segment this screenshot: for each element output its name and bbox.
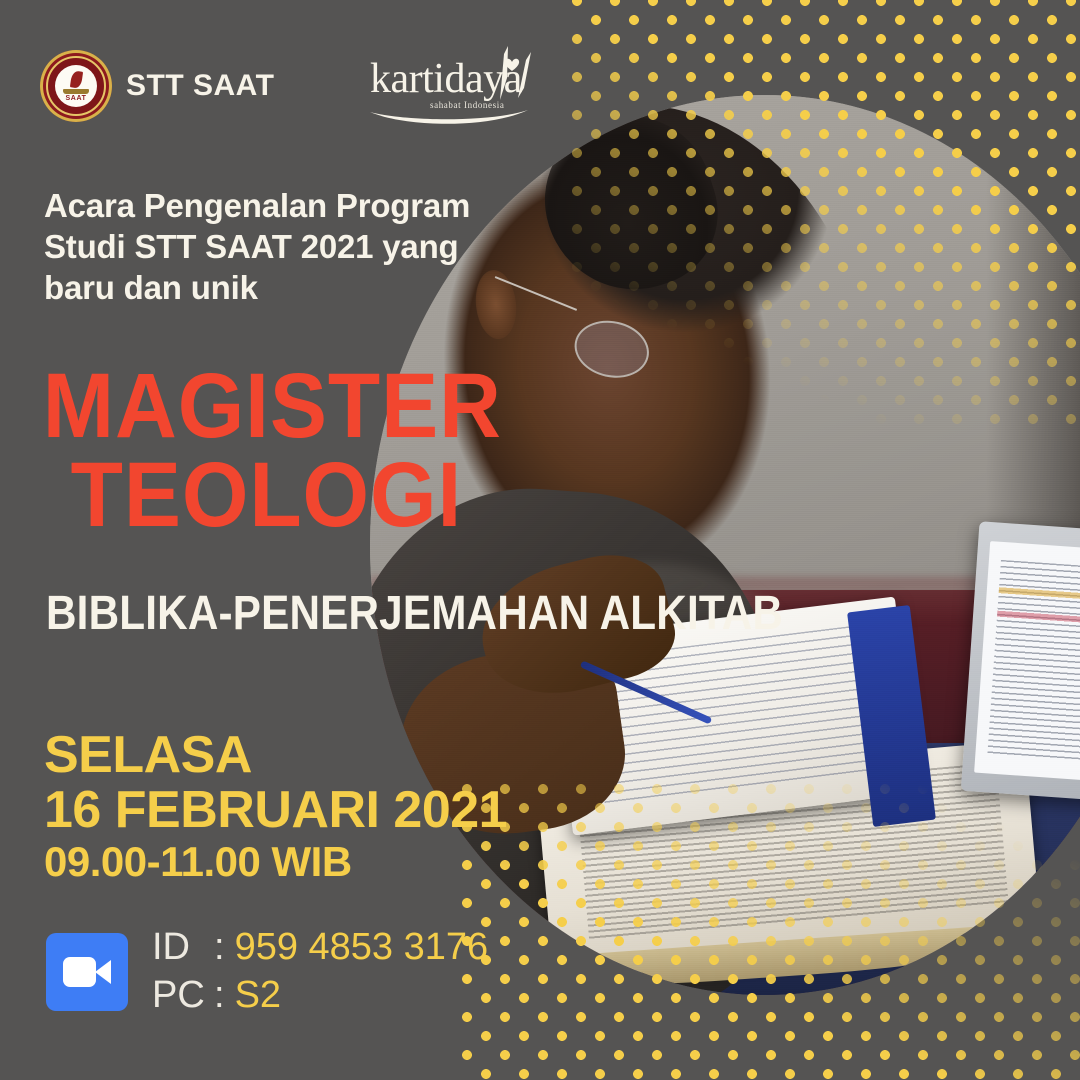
meeting-passcode-value: S2 — [235, 973, 281, 1019]
stt-saat-label: STT SAAT — [126, 69, 274, 103]
poster-header: SAAT STT SAAT kartidaya sahabat Indonesi… — [0, 0, 1080, 150]
schedule-date: 16 FEBRUARI 2021 — [44, 783, 507, 838]
meeting-id-separator: : — [208, 925, 235, 971]
program-subtitle: BIBLIKA-PENERJEMAHAN ALKITAB — [46, 586, 783, 641]
zoom-video-icon — [46, 933, 128, 1011]
kartidaya-brand: kartidaya sahabat Indonesia — [370, 50, 540, 130]
kartidaya-leaf-mark — [474, 44, 534, 102]
program-title-line-2: TEOLOGI — [0, 451, 670, 540]
meeting-passcode-label: PC — [152, 973, 208, 1019]
schedule-block: SELASA 16 FEBRUARI 2021 09.00-11.00 WIB — [44, 728, 507, 885]
program-title: MAGISTER TEOLOGI — [0, 362, 720, 540]
meeting-id-label: ID — [152, 925, 208, 971]
program-title-line-1: MAGISTER — [0, 362, 670, 451]
schedule-time: 09.00-11.00 WIB — [44, 838, 507, 885]
stt-saat-brand: SAAT STT SAAT — [40, 50, 274, 122]
video-camera-icon — [63, 957, 111, 987]
poster-canvas: SAAT STT SAAT kartidaya sahabat Indonesi… — [0, 0, 1080, 1080]
meeting-passcode-row: PC : S2 — [152, 973, 488, 1019]
camera-lens — [95, 960, 111, 984]
kartidaya-book-swoosh — [368, 108, 530, 130]
stt-saat-seal-icon: SAAT — [40, 50, 112, 122]
meeting-id-value: 959 4853 3176 — [235, 925, 489, 971]
meeting-passcode-separator: : — [208, 973, 235, 1019]
schedule-day: SELASA — [44, 728, 507, 783]
meeting-info: ID : 959 4853 3176 PC : S2 — [46, 925, 488, 1018]
camera-body — [63, 957, 96, 987]
saat-seal-center: SAAT — [55, 65, 97, 107]
meeting-credentials: ID : 959 4853 3176 PC : S2 — [152, 925, 488, 1018]
intro-paragraph: Acara Pengenalan Program Studi STT SAAT … — [44, 186, 524, 309]
flame-icon — [69, 70, 82, 88]
meeting-id-row: ID : 959 4853 3176 — [152, 925, 488, 971]
book-icon — [63, 89, 89, 94]
saat-seal-word: SAAT — [66, 95, 87, 102]
